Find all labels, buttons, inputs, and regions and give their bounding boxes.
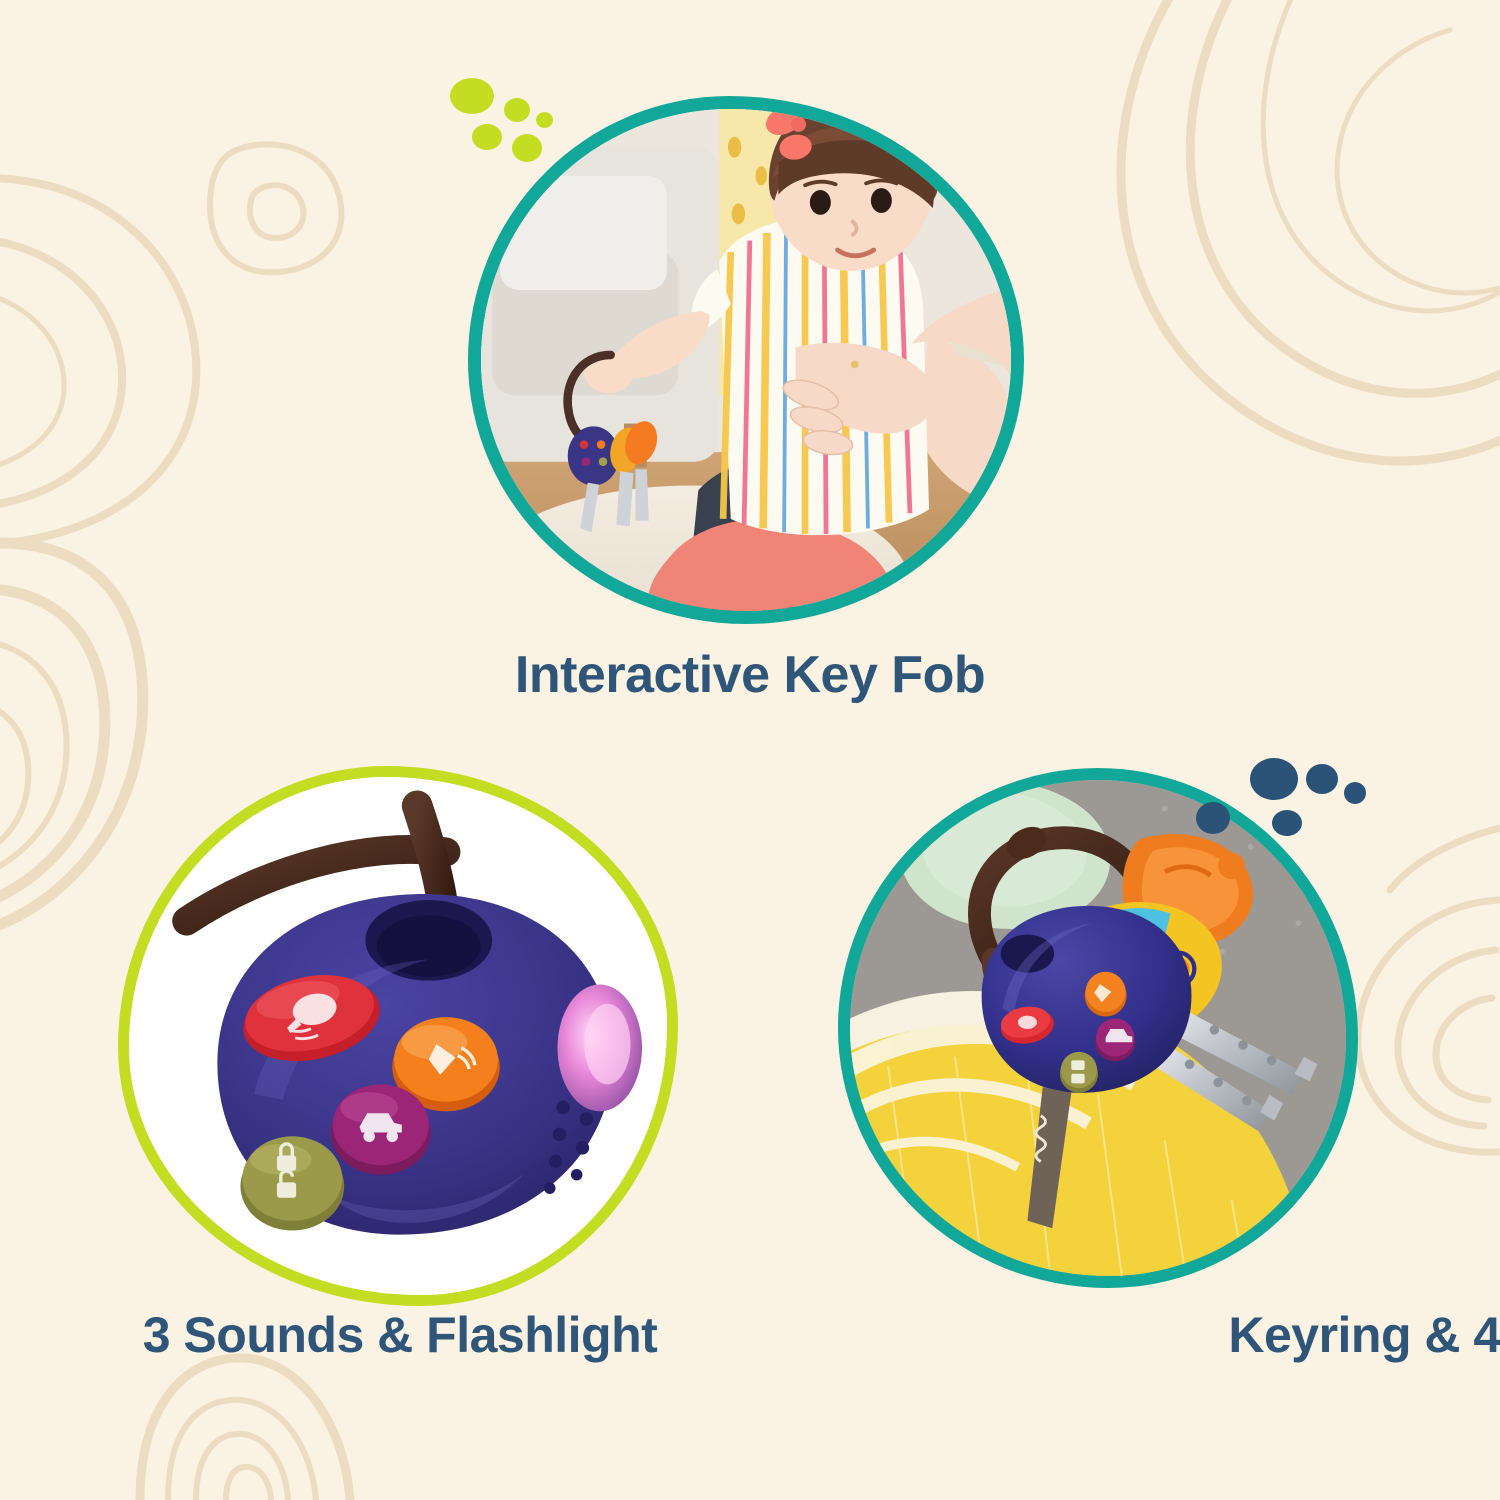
decor-dot (512, 134, 542, 162)
dot-cluster-lime (426, 72, 606, 202)
caption-keyring-and-4-keys: Keyring & 4 Keys (680, 1306, 1500, 1364)
photo-blob-bottom-left (118, 766, 678, 1306)
loops-left-upper (0, 178, 196, 545)
panel-bottom-left-photo-frame (118, 766, 678, 1306)
decor-dot (472, 124, 502, 150)
engine-button-photo (331, 1084, 431, 1174)
ring-blob-upper-left (210, 144, 341, 272)
decor-dot (1344, 782, 1366, 804)
rings-top-right (1121, 0, 1500, 461)
decor-dot (504, 98, 530, 122)
decor-dot (450, 78, 494, 114)
arches-bottom-left (140, 1358, 350, 1500)
dot-cluster-navy (1238, 740, 1428, 890)
decor-dot (536, 112, 553, 128)
lock-unlock-button-photo (240, 1136, 344, 1230)
rings-top-right-inner (1263, 0, 1500, 311)
decor-dot (1250, 758, 1298, 800)
loops-left-upper-inner (0, 289, 64, 474)
caption-interactive-key-fob: Interactive Key Fob (0, 645, 1500, 705)
decor-dot (1272, 810, 1302, 836)
panel-bottom-right-photo-frame (838, 768, 1358, 1288)
triangles-right-edge (1358, 900, 1500, 1152)
panel-top-photo-frame (468, 96, 1024, 624)
arches-bottom-left-inner (168, 1400, 316, 1500)
decor-dot (1196, 802, 1230, 834)
decor-dot (1306, 764, 1338, 794)
product-feature-infographic: Interactive Key Fob (0, 0, 1500, 1500)
photo-key-fob-closeup (129, 777, 667, 1296)
